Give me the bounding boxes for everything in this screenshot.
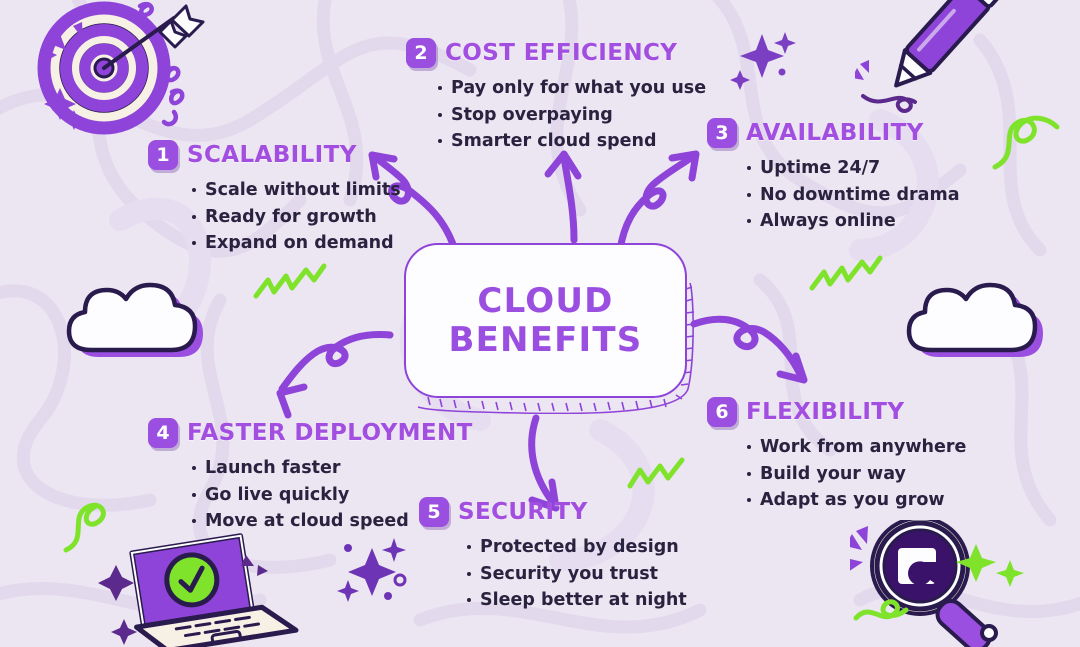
laptop-check-icon: [98, 527, 313, 647]
list-item: Launch faster: [190, 455, 473, 482]
green-zigzag-icon: [624, 452, 694, 500]
list-item: Uptime 24/7: [745, 155, 960, 182]
section-number-badge: 2: [406, 38, 436, 68]
list-item: Adapt as you grow: [745, 487, 966, 514]
section-header: 6 FLEXIBILITY: [707, 397, 966, 427]
center-card: CLOUD BENEFITS: [404, 243, 687, 398]
green-zigzag-icon: [252, 258, 332, 308]
sparkle-icon: [728, 24, 798, 94]
list-item: Pay only for what you use: [436, 75, 706, 102]
list-item: Work from anywhere: [745, 434, 966, 461]
arrow-to-cost-efficiency: [530, 148, 600, 243]
target-arrow-icon: [22, 0, 212, 140]
list-item: Security you trust: [465, 561, 687, 588]
section-header: 1 SCALABILITY: [148, 140, 401, 170]
cloud-icon: [895, 268, 1055, 368]
list-item: Expand on demand: [190, 230, 401, 257]
list-item: Protected by design: [465, 534, 687, 561]
section-header: 3 AVAILABILITY: [707, 118, 960, 148]
section-title: SCALABILITY: [187, 142, 357, 168]
arrow-to-flexibility: [688, 308, 818, 403]
section-number-badge: 4: [148, 418, 178, 448]
section-bullet-list: Scale without limits Ready for growth Ex…: [148, 177, 401, 257]
infographic-canvas: CLOUD BENEFITS 1 SCALABILITY Scale witho…: [0, 0, 1080, 647]
card-title-line2: BENEFITS: [449, 320, 643, 360]
page-title: CLOUD BENEFITS: [449, 282, 643, 358]
list-item: Stop overpaying: [436, 102, 706, 129]
section-title: SECURITY: [458, 499, 588, 525]
list-item: Sleep better at night: [465, 587, 687, 614]
list-item: No downtime drama: [745, 182, 960, 209]
list-item: Scale without limits: [190, 177, 401, 204]
card-face: CLOUD BENEFITS: [404, 243, 687, 398]
section-bullet-list: Work from anywhere Build your way Adapt …: [707, 434, 966, 514]
list-item: Ready for growth: [190, 204, 401, 231]
section-bullet-list: Uptime 24/7 No downtime drama Always onl…: [707, 155, 960, 235]
cloud-icon: [55, 268, 215, 368]
section-title: FLEXIBILITY: [746, 399, 904, 425]
section-availability: 3 AVAILABILITY Uptime 24/7 No downtime d…: [707, 118, 960, 235]
section-bullet-list: Protected by design Security you trust S…: [419, 534, 687, 614]
section-number-badge: 5: [419, 497, 449, 527]
section-title: AVAILABILITY: [746, 120, 924, 146]
section-title: FASTER DEPLOYMENT: [187, 420, 473, 446]
section-header: 4 FASTER DEPLOYMENT: [148, 418, 473, 448]
pencil-icon: [855, 0, 1015, 121]
section-header: 5 SECURITY: [419, 497, 687, 527]
sparkle-icon: [334, 532, 414, 607]
arrow-to-faster-deployment: [270, 325, 400, 425]
section-number-badge: 3: [707, 118, 737, 148]
section-security: 5 SECURITY Protected by design Security …: [419, 497, 687, 614]
section-flexibility: 6 FLEXIBILITY Work from anywhere Build y…: [707, 397, 966, 514]
section-scalability: 1 SCALABILITY Scale without limits Ready…: [148, 140, 401, 257]
green-zigzag-icon: [808, 252, 888, 302]
section-number-badge: 1: [148, 140, 178, 170]
section-title: COST EFFICIENCY: [445, 40, 677, 66]
list-item: Build your way: [745, 461, 966, 488]
section-cost-efficiency: 2 COST EFFICIENCY Pay only for what you …: [406, 38, 706, 155]
list-item: Always online: [745, 208, 960, 235]
list-item: Smarter cloud spend: [436, 128, 706, 155]
section-header: 2 COST EFFICIENCY: [406, 38, 706, 68]
section-number-badge: 6: [707, 397, 737, 427]
section-bullet-list: Pay only for what you use Stop overpayin…: [406, 75, 706, 155]
card-title-line1: CLOUD: [477, 281, 613, 321]
magnifier-icon: [850, 520, 1035, 647]
